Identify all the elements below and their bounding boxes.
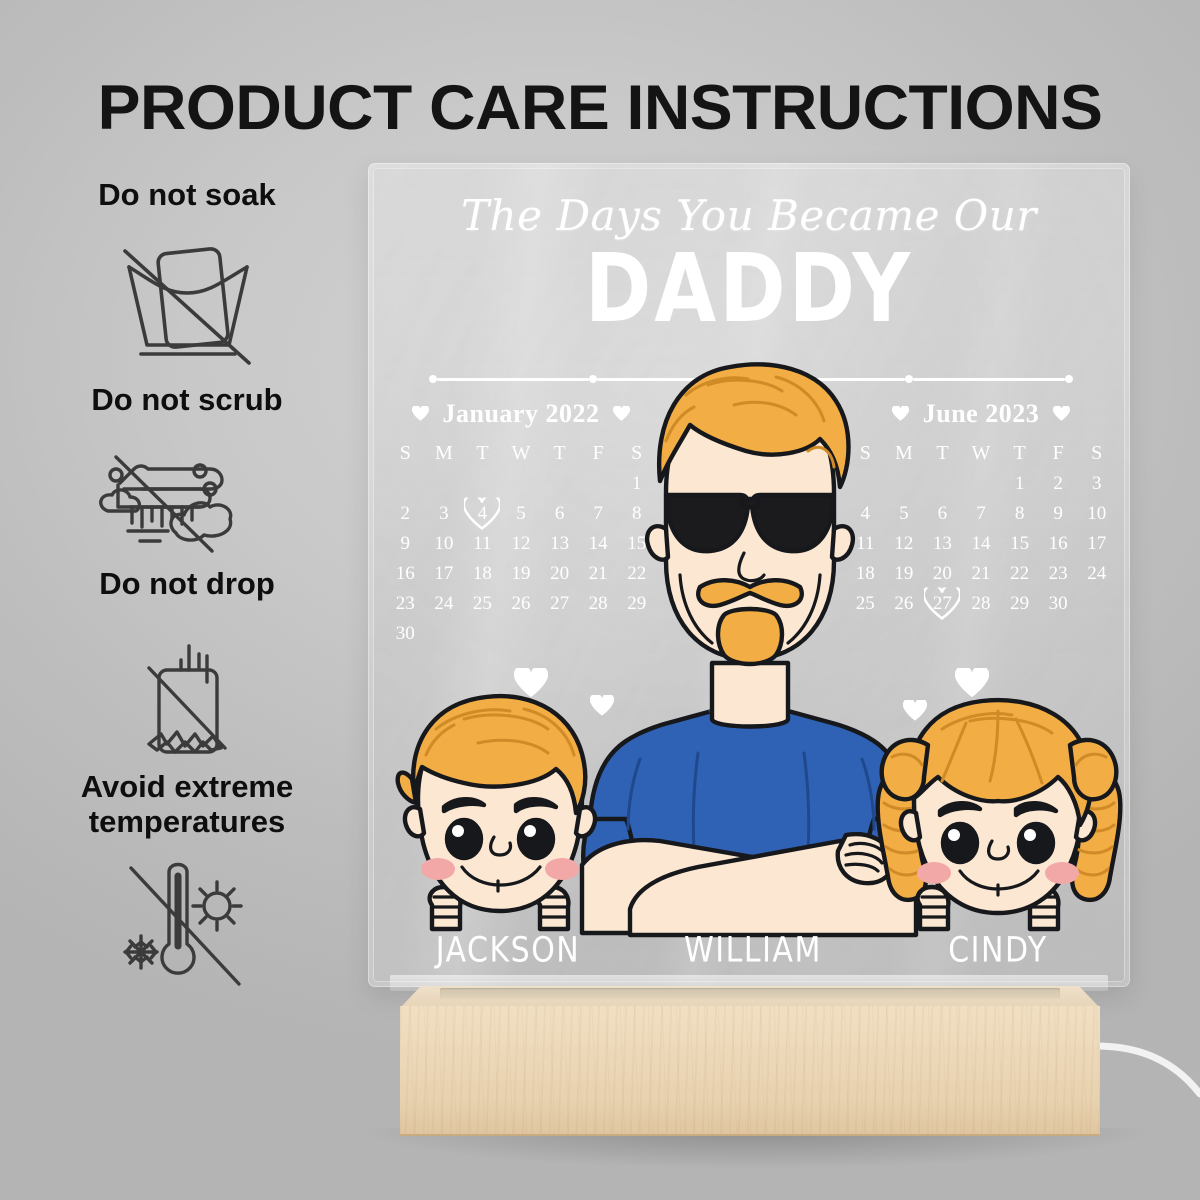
calendar-day: 18 <box>463 559 502 589</box>
calendar-day: 11 <box>463 529 502 559</box>
care-item-do-not-scrub: Do not scrub <box>22 383 352 556</box>
calendar-day: 23 <box>386 589 425 619</box>
product-care-poster: PRODUCT CARE INSTRUCTIONS Do not soak Do… <box>0 0 1200 1200</box>
calendar-day: 1 <box>617 469 656 499</box>
no-scrub-icon <box>72 423 302 555</box>
calendar-day: 29 <box>1000 589 1039 619</box>
calendar-day: 27 <box>540 589 579 619</box>
care-item-avoid-extreme-temperatures: Avoid extreme temperatures <box>22 770 352 995</box>
calendar-day: 14 <box>579 529 618 559</box>
calendar-day-header: T <box>463 437 502 469</box>
calendar-header: June 2023 <box>846 399 1116 429</box>
heart-icon <box>892 406 909 422</box>
care-item-do-not-soak: Do not soak <box>22 178 352 371</box>
calendar-left: January 2022 SMTWTFS12345678910111213141… <box>386 399 656 649</box>
calendar-day: 30 <box>386 619 425 649</box>
decorative-divider <box>466 371 1036 387</box>
calendar-day: 13 <box>923 529 962 559</box>
calendar-day: 24 <box>1077 559 1116 589</box>
figure-child-boy <box>398 696 595 929</box>
calendar-day-header: F <box>579 437 618 469</box>
calendar-day: 9 <box>386 529 425 559</box>
calendar-day: 7 <box>579 499 618 529</box>
calendar-day-empty <box>962 469 1001 499</box>
calendar-day-empty <box>463 469 502 499</box>
calendar-day: 19 <box>502 559 541 589</box>
calendar-day: 24 <box>425 589 464 619</box>
calendar-day: 6 <box>540 499 579 529</box>
calendar-day: 1 <box>1000 469 1039 499</box>
calendar-day-empty <box>579 469 618 499</box>
calendar-day: 8 <box>1000 499 1039 529</box>
calendar-day: 26 <box>885 589 924 619</box>
calendar-day: 10 <box>1077 499 1116 529</box>
figure-child-girl <box>878 700 1121 929</box>
calendar-right: June 2023 SMTWTFS12345678910111213141516… <box>846 399 1116 619</box>
care-item-label-line2: temperatures <box>22 805 352 840</box>
heart-icon <box>412 406 429 422</box>
calendar-day: 21 <box>579 559 618 589</box>
care-item-label-line1: Avoid extreme <box>22 770 352 805</box>
calendar-day: 25 <box>846 589 885 619</box>
calendar-day: 28 <box>579 589 618 619</box>
calendar-day: 3 <box>1077 469 1116 499</box>
calendar-day: 4 <box>846 499 885 529</box>
calendar-day-header: T <box>923 437 962 469</box>
calendar-day: 22 <box>617 559 656 589</box>
calendar-day-header: W <box>502 437 541 469</box>
calendar-day-header: S <box>386 437 425 469</box>
care-item-label: Do not soak <box>22 178 352 213</box>
heart-icon <box>955 668 989 699</box>
acrylic-plaque: The Days You Became Our DADDY January 20… <box>368 163 1130 987</box>
heart-icon <box>514 668 548 699</box>
calendar-day: 15 <box>617 529 656 559</box>
base-front-face <box>400 1006 1100 1136</box>
calendar-day-header: T <box>540 437 579 469</box>
figure-name-cindy: CINDY <box>898 930 1098 970</box>
base-acrylic-slot <box>440 988 1060 999</box>
heart-icon <box>613 406 630 422</box>
calendar-day-header: S <box>846 437 885 469</box>
calendar-day-empty <box>425 469 464 499</box>
no-soak-icon <box>107 223 267 371</box>
calendar-day-empty <box>579 619 618 649</box>
calendar-day: 29 <box>617 589 656 619</box>
calendar-day: 5 <box>885 499 924 529</box>
calendar-day: 23 <box>1039 559 1078 589</box>
calendar-day: 20 <box>540 559 579 589</box>
care-item-label: Do not scrub <box>22 383 352 418</box>
calendar-day: 19 <box>885 559 924 589</box>
care-item-do-not-drop: Do not drop <box>22 567 352 758</box>
figure-name-william: WILLIAM <box>633 930 873 970</box>
calendar-day: 22 <box>1000 559 1039 589</box>
figure-name-jackson: JACKSON <box>408 930 608 970</box>
page-title: PRODUCT CARE INSTRUCTIONS <box>0 72 1200 144</box>
calendar-day: 14 <box>962 529 1001 559</box>
care-item-label: Do not drop <box>22 567 352 602</box>
calendar-day: 16 <box>386 559 425 589</box>
calendar-title: June 2023 <box>923 399 1039 429</box>
calendar-day: 28 <box>962 589 1001 619</box>
calendar-day-header: S <box>617 437 656 469</box>
plaque-headline-main: DADDY <box>368 242 1130 336</box>
calendar-day: 26 <box>502 589 541 619</box>
calendar-day: 10 <box>425 529 464 559</box>
heart-icon <box>590 695 614 717</box>
calendar-day-marked: 27 <box>923 589 962 619</box>
calendar-day-empty <box>502 619 541 649</box>
calendar-day: 17 <box>1077 529 1116 559</box>
calendar-day: 15 <box>1000 529 1039 559</box>
calendar-day: 3 <box>425 499 464 529</box>
calendar-day-empty <box>386 469 425 499</box>
no-extreme-temperature-icon <box>97 846 277 996</box>
calendar-day: 21 <box>962 559 1001 589</box>
no-drop-icon <box>107 608 267 758</box>
calendar-day-header: F <box>1039 437 1078 469</box>
calendar-day-empty <box>463 619 502 649</box>
calendar-day: 2 <box>386 499 425 529</box>
calendar-day: 17 <box>425 559 464 589</box>
calendar-day: 16 <box>1039 529 1078 559</box>
calendar-day-empty <box>846 469 885 499</box>
calendar-day: 20 <box>923 559 962 589</box>
calendar-day-empty <box>617 619 656 649</box>
calendar-day: 12 <box>502 529 541 559</box>
calendar-day: 18 <box>846 559 885 589</box>
calendar-day-empty <box>502 469 541 499</box>
calendar-grid: SMTWTFS123456789101112131415161718192021… <box>846 437 1116 619</box>
calendar-day: 2 <box>1039 469 1078 499</box>
calendar-day-header: T <box>1000 437 1039 469</box>
power-cable <box>1096 1040 1200 1102</box>
calendar-day: 5 <box>502 499 541 529</box>
calendar-day-header: S <box>1077 437 1116 469</box>
calendar-day-header: W <box>962 437 1001 469</box>
calendar-title: January 2022 <box>443 399 600 429</box>
calendar-day: 25 <box>463 589 502 619</box>
care-instructions-list: Do not soak Do not scrub <box>22 178 352 1008</box>
calendar-day-header: M <box>885 437 924 469</box>
calendar-day: 12 <box>885 529 924 559</box>
calendar-day: 13 <box>540 529 579 559</box>
calendar-day-empty <box>923 469 962 499</box>
calendar-day-marked: 4 <box>463 499 502 529</box>
calendar-day: 7 <box>962 499 1001 529</box>
calendar-day-empty <box>540 469 579 499</box>
calendar-day-empty <box>885 469 924 499</box>
plaque-headline-script: The Days You Became Our <box>368 195 1130 237</box>
calendar-day: 6 <box>923 499 962 529</box>
calendar-day: 11 <box>846 529 885 559</box>
heart-icon <box>1053 406 1070 422</box>
calendar-day-empty <box>425 619 464 649</box>
calendar-grid: SMTWTFS123456789101112131415161718192021… <box>386 437 656 649</box>
calendar-day-empty <box>540 619 579 649</box>
calendar-header: January 2022 <box>386 399 656 429</box>
wooden-light-base <box>400 986 1100 1144</box>
calendar-day: 8 <box>617 499 656 529</box>
calendar-day: 9 <box>1039 499 1078 529</box>
calendar-day-empty <box>1077 589 1116 619</box>
calendar-day-header: M <box>425 437 464 469</box>
calendar-day: 30 <box>1039 589 1078 619</box>
heart-icon <box>903 700 927 722</box>
